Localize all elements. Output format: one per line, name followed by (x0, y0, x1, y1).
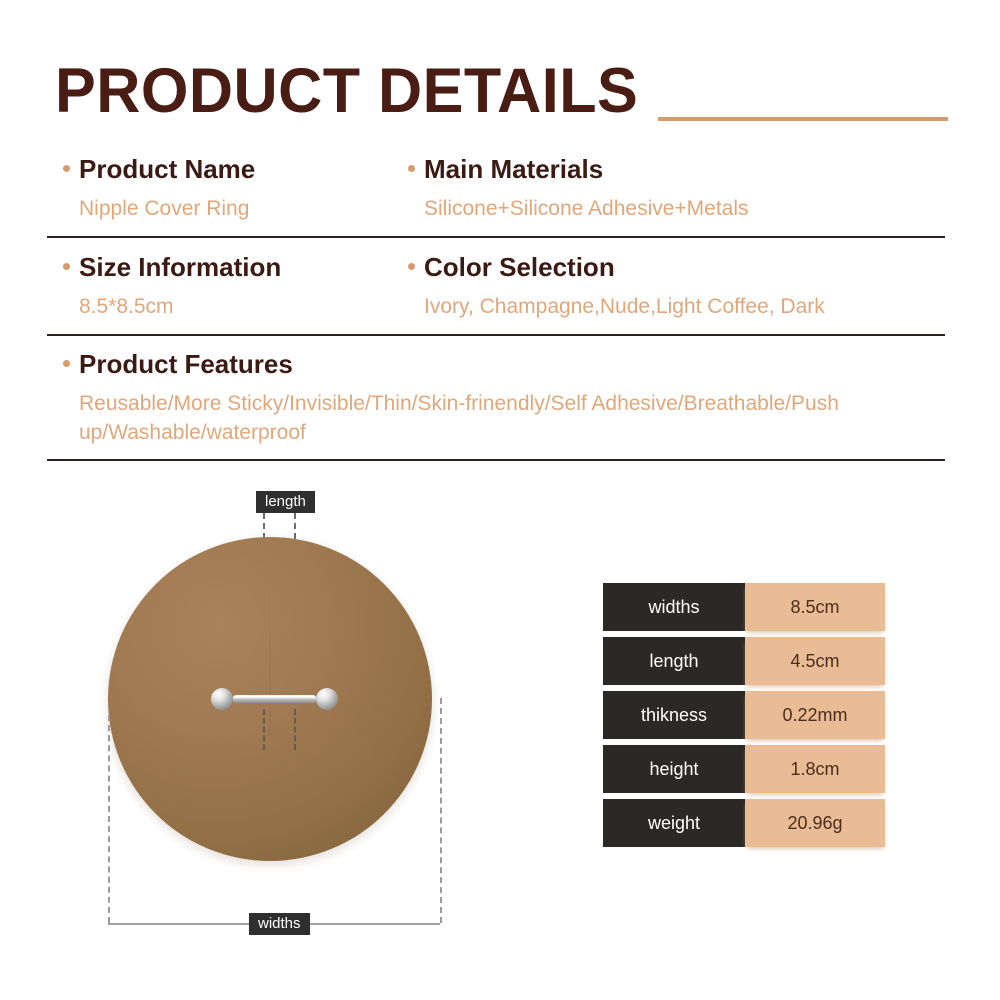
table-row: length 4.5cm (603, 637, 885, 685)
product-features-label: Product Features (79, 349, 293, 379)
field-label: Color Selection (408, 252, 825, 282)
bullet-dot-icon (408, 165, 415, 172)
size-information-label: Size Information (79, 252, 281, 282)
divider-line-1 (47, 236, 945, 238)
main-materials-value: Silicone+Silicone Adhesive+Metals (408, 194, 749, 223)
spec-key: weight (603, 799, 745, 847)
table-row: weight 20.96g (603, 799, 885, 847)
metal-barbell-right (272, 690, 338, 708)
widths-label-badge: widths (249, 913, 310, 935)
field-main-materials: Main Materials Silicone+Silicone Adhesiv… (408, 154, 749, 223)
color-selection-value: Ivory, Champagne,Nude,Light Coffee, Dark (408, 292, 825, 321)
page-title-row: PRODUCT DETAILS (55, 56, 945, 130)
length-label-badge: length (256, 491, 315, 513)
bullet-dot-icon (63, 360, 70, 367)
spec-value: 4.5cm (745, 637, 885, 685)
bullet-dot-icon (408, 263, 415, 270)
field-label: Product Features (63, 349, 959, 379)
divider-line-3 (47, 459, 945, 461)
table-row: height 1.8cm (603, 745, 885, 793)
width-guide-line-right (440, 698, 442, 923)
product-features-value: Reusable/More Sticky/Invisible/Thin/Skin… (63, 389, 959, 447)
length-guide-line-right-lower (294, 709, 296, 750)
length-guide-line-left-lower (263, 709, 265, 750)
spec-key: height (603, 745, 745, 793)
metal-barbell-left (211, 690, 277, 708)
product-details-infographic: PRODUCT DETAILS Product Name Nipple Cove… (0, 0, 1000, 1000)
barbell-ball (316, 688, 338, 710)
field-product-name: Product Name Nipple Cover Ring (63, 154, 255, 223)
barbell-ball (211, 688, 233, 710)
spec-key: widths (603, 583, 745, 631)
bullet-dot-icon (63, 263, 70, 270)
spec-value: 0.22mm (745, 691, 885, 739)
barbell-bar (272, 695, 316, 703)
spec-value: 8.5cm (745, 583, 885, 631)
field-label: Size Information (63, 252, 281, 282)
product-image-silicone-dome (108, 537, 432, 861)
table-row: thikness 0.22mm (603, 691, 885, 739)
spec-value: 1.8cm (745, 745, 885, 793)
field-label: Product Name (63, 154, 255, 184)
spec-table: widths 8.5cm length 4.5cm thikness 0.22m… (603, 583, 885, 847)
spec-value: 20.96g (745, 799, 885, 847)
table-row: widths 8.5cm (603, 583, 885, 631)
product-diagram: length widths (60, 480, 530, 950)
field-label: Main Materials (408, 154, 749, 184)
field-size-information: Size Information 8.5*8.5cm (63, 252, 281, 321)
main-materials-label: Main Materials (424, 154, 603, 184)
barbell-bar (233, 695, 277, 703)
spec-key: length (603, 637, 745, 685)
product-name-value: Nipple Cover Ring (63, 194, 255, 223)
field-color-selection: Color Selection Ivory, Champagne,Nude,Li… (408, 252, 825, 321)
spec-key: thikness (603, 691, 745, 739)
divider-line-2 (47, 334, 945, 336)
title-underline-accent (658, 117, 948, 121)
field-product-features: Product Features Reusable/More Sticky/In… (63, 349, 959, 447)
page-title: PRODUCT DETAILS (55, 56, 638, 126)
bullet-dot-icon (63, 165, 70, 172)
product-name-label: Product Name (79, 154, 255, 184)
width-guide-line-left (108, 715, 110, 923)
color-selection-label: Color Selection (424, 252, 615, 282)
size-information-value: 8.5*8.5cm (63, 292, 281, 321)
